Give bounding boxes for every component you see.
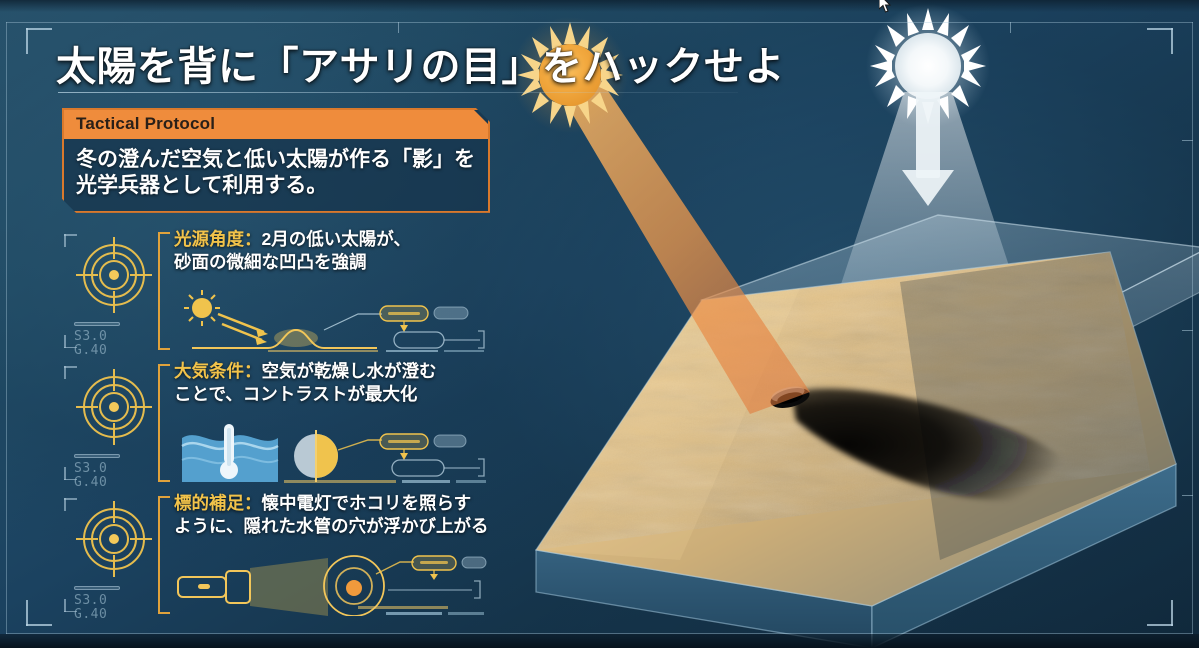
reticle-bracket-tl — [64, 234, 77, 247]
hud-readout-1: S3.0 G.40 — [74, 330, 107, 357]
flashlight-icon — [178, 571, 250, 603]
feature-content-2: 大気条件：空気が乾燥し水が澄む ことで、コントラストが最大化 — [158, 360, 490, 488]
hud-value-g: G.40 — [74, 476, 107, 490]
protocol-line-1: 冬の澄んだ空気と低い太陽が作る「影」を — [76, 147, 476, 173]
hud-readout-3: S3.0 G.40 — [74, 594, 107, 621]
mouse-cursor — [879, 0, 893, 14]
frame-tick-right-3 — [1182, 495, 1193, 496]
feature-text-1: 光源角度：2月の低い太陽が、 砂面の微細な凹凸を強調 — [174, 228, 492, 275]
sand-shadow-illustration — [470, 0, 1199, 648]
hud-value-s: S3.0 — [74, 594, 107, 608]
frame-right-line — [1192, 22, 1193, 634]
corner-bracket-top-right — [1147, 28, 1173, 54]
feature-bracket-3 — [158, 496, 170, 614]
feature-item-target-acquisition: S3.0 G.40 標的補足：懐中電灯でホコリを照らす ように、隠れた水管の穴が… — [60, 492, 490, 620]
hud-value-s: S3.0 — [74, 462, 107, 476]
corner-bracket-top-left — [26, 28, 52, 54]
feature-content-3: 標的補足：懐中電灯でホコリを照らす ように、隠れた水管の穴が浮かび上がる — [158, 492, 490, 620]
feature-label-3: 標的補足： — [174, 493, 262, 513]
feature-text-2: 大気条件：空気が乾燥し水が澄む ことで、コントラストが最大化 — [174, 360, 492, 407]
reticle-group-3: S3.0 G.40 — [64, 498, 164, 616]
contrast-circle-icon — [294, 430, 338, 482]
reticle-bracket-tl-3 — [64, 498, 77, 511]
frame-tick-top-1 — [398, 22, 399, 33]
feature-line-3a: 懐中電灯でホコリを照らす — [262, 493, 472, 513]
crosshair-reticle-icon — [64, 366, 164, 448]
feature-line-2b: ことで、コントラストが最大化 — [174, 384, 417, 404]
corner-bracket-bottom-left — [26, 600, 52, 626]
feature-item-atmosphere: S3.0 G.40 大気条件：空気が乾燥し水が澄む ことで、コントラストが最大化 — [60, 360, 490, 488]
reticle-group-1: S3.0 G.40 — [64, 234, 164, 352]
hud-bar-2 — [74, 454, 146, 458]
corner-bracket-bottom-right — [1147, 600, 1173, 626]
protocol-body: 冬の澄んだ空気と低い太陽が作る「影」を 光学兵器として利用する。 — [64, 139, 488, 211]
illustration-svg — [470, 0, 1199, 648]
sun-rays-on-dune-icon — [172, 284, 492, 352]
protocol-header-label: Tactical Protocol — [64, 110, 488, 139]
frame-tick-top-2 — [1010, 22, 1011, 33]
feature-bracket-2 — [158, 364, 170, 482]
crosshair-reticle-icon — [64, 234, 164, 316]
frame-top-line — [6, 22, 1193, 23]
feature-bracket-1 — [158, 232, 170, 350]
feature-line-2a: 空気が乾燥し水が澄む — [262, 361, 437, 381]
frame-left-line — [6, 22, 7, 634]
hud-readout-2: S3.0 G.40 — [74, 462, 107, 489]
hud-bar-1 — [74, 322, 146, 326]
infographic-canvas: 太陽を背に「アサリの目」をハックせよ Tactical Protocol 冬の澄… — [0, 0, 1199, 648]
feature-text-3: 標的補足：懐中電灯でホコリを照らす ように、隠れた水管の穴が浮かび上がる — [174, 492, 492, 539]
feature-line-1a: 2月の低い太陽が、 — [262, 229, 411, 249]
bottom-band — [0, 634, 1199, 648]
frame-tick-right-2 — [1182, 330, 1193, 331]
flashlight-beam-target-icon — [172, 548, 492, 616]
hud-value-g: G.40 — [74, 344, 107, 358]
protocol-line-2: 光学兵器として利用する。 — [76, 173, 476, 199]
hud-bar-3 — [74, 586, 146, 590]
crosshair-reticle-icon — [64, 498, 164, 580]
reticle-group-2: S3.0 G.40 — [64, 366, 164, 484]
feature-label-1: 光源角度： — [174, 229, 262, 249]
feature-line-3b: ように、隠れた水管の穴が浮かび上がる — [174, 516, 488, 536]
feature-line-1b: 砂面の微細な凹凸を強調 — [174, 252, 367, 272]
feature-item-light-angle: S3.0 G.40 光源角度：2月の低い太陽が、 砂面の微細な凹凸を強調 — [60, 228, 490, 356]
page-title: 太陽を背に「アサリの目」をハックせよ — [56, 34, 785, 92]
hud-value-g: G.40 — [74, 608, 107, 622]
frame-tick-right-1 — [1182, 140, 1193, 141]
hud-value-s: S3.0 — [74, 330, 107, 344]
water-thermometer-contrast-icon — [172, 416, 492, 484]
feature-label-2: 大気条件： — [174, 361, 262, 381]
title-divider — [58, 92, 738, 93]
tactical-protocol-card: Tactical Protocol 冬の澄んだ空気と低い太陽が作る「影」を 光学… — [62, 108, 490, 213]
reticle-bracket-tl-2 — [64, 366, 77, 379]
feature-content-1: 光源角度：2月の低い太陽が、 砂面の微細な凹凸を強調 — [158, 228, 490, 356]
